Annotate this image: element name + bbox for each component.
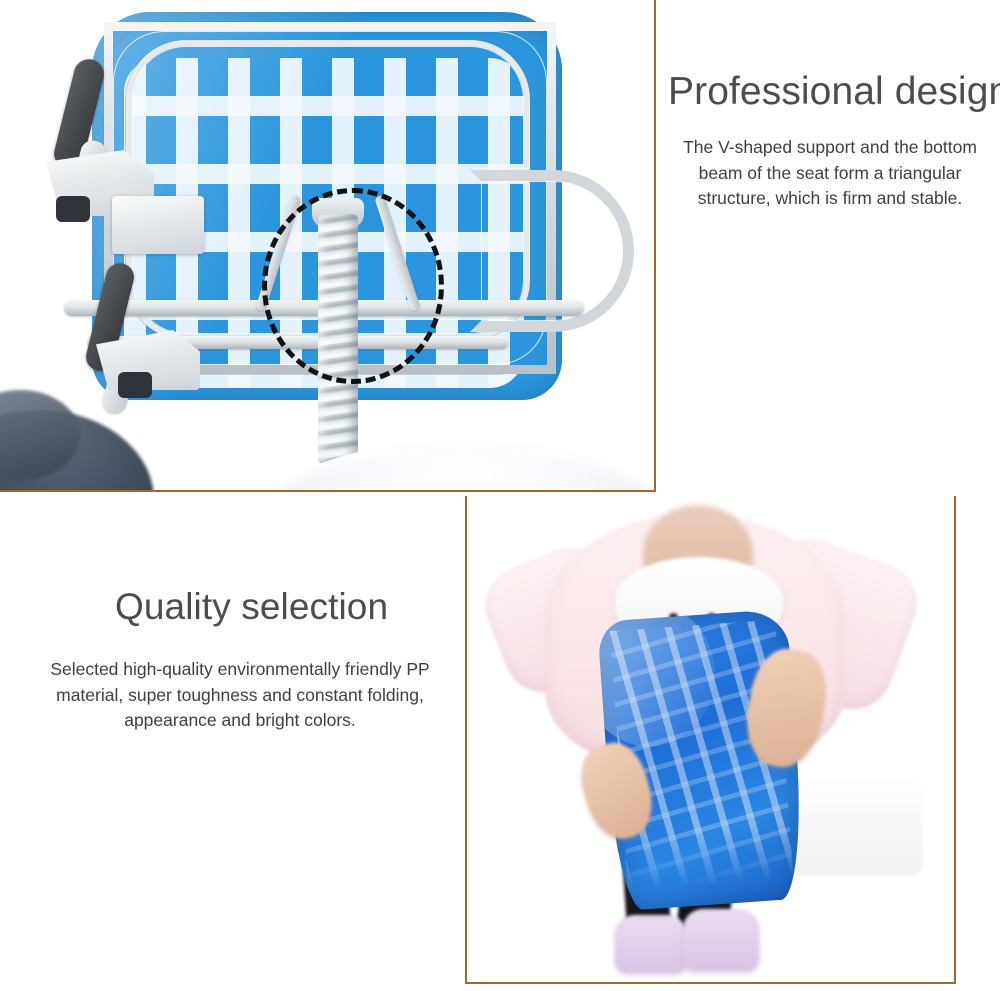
seat-base-dome [250, 440, 654, 490]
child-shoe-right [683, 909, 759, 971]
top-panel-border-bottom [0, 490, 656, 492]
bottom-panel-body: Selected high-quality environmentally fr… [30, 657, 450, 734]
dashed-highlight-circle-icon [262, 188, 444, 384]
mounting-bracket-center [112, 196, 204, 254]
bottom-panel-text: Quality selection Selected high-quality … [30, 588, 450, 734]
top-panel-border-right [654, 0, 656, 492]
tube-end-cap-upper [56, 196, 90, 222]
bottom-panel-border-left [465, 496, 467, 984]
product-photo-seat-underside [0, 0, 654, 490]
child-shoe-left [615, 915, 687, 973]
top-panel-heading: Professional design [668, 72, 1000, 113]
bottom-panel-border-bottom [465, 982, 956, 984]
product-photo-child-squeezing-basket [467, 497, 954, 982]
bottom-panel-border-right [954, 496, 956, 984]
bottom-panel-heading: Quality selection [115, 588, 450, 627]
top-panel-text: Professional design The V-shaped support… [660, 72, 1000, 212]
infographic-canvas: Professional design The V-shaped support… [0, 0, 1000, 991]
tube-end-cap-lower [118, 372, 152, 398]
top-panel-body: The V-shaped support and the bottom beam… [660, 135, 1000, 212]
